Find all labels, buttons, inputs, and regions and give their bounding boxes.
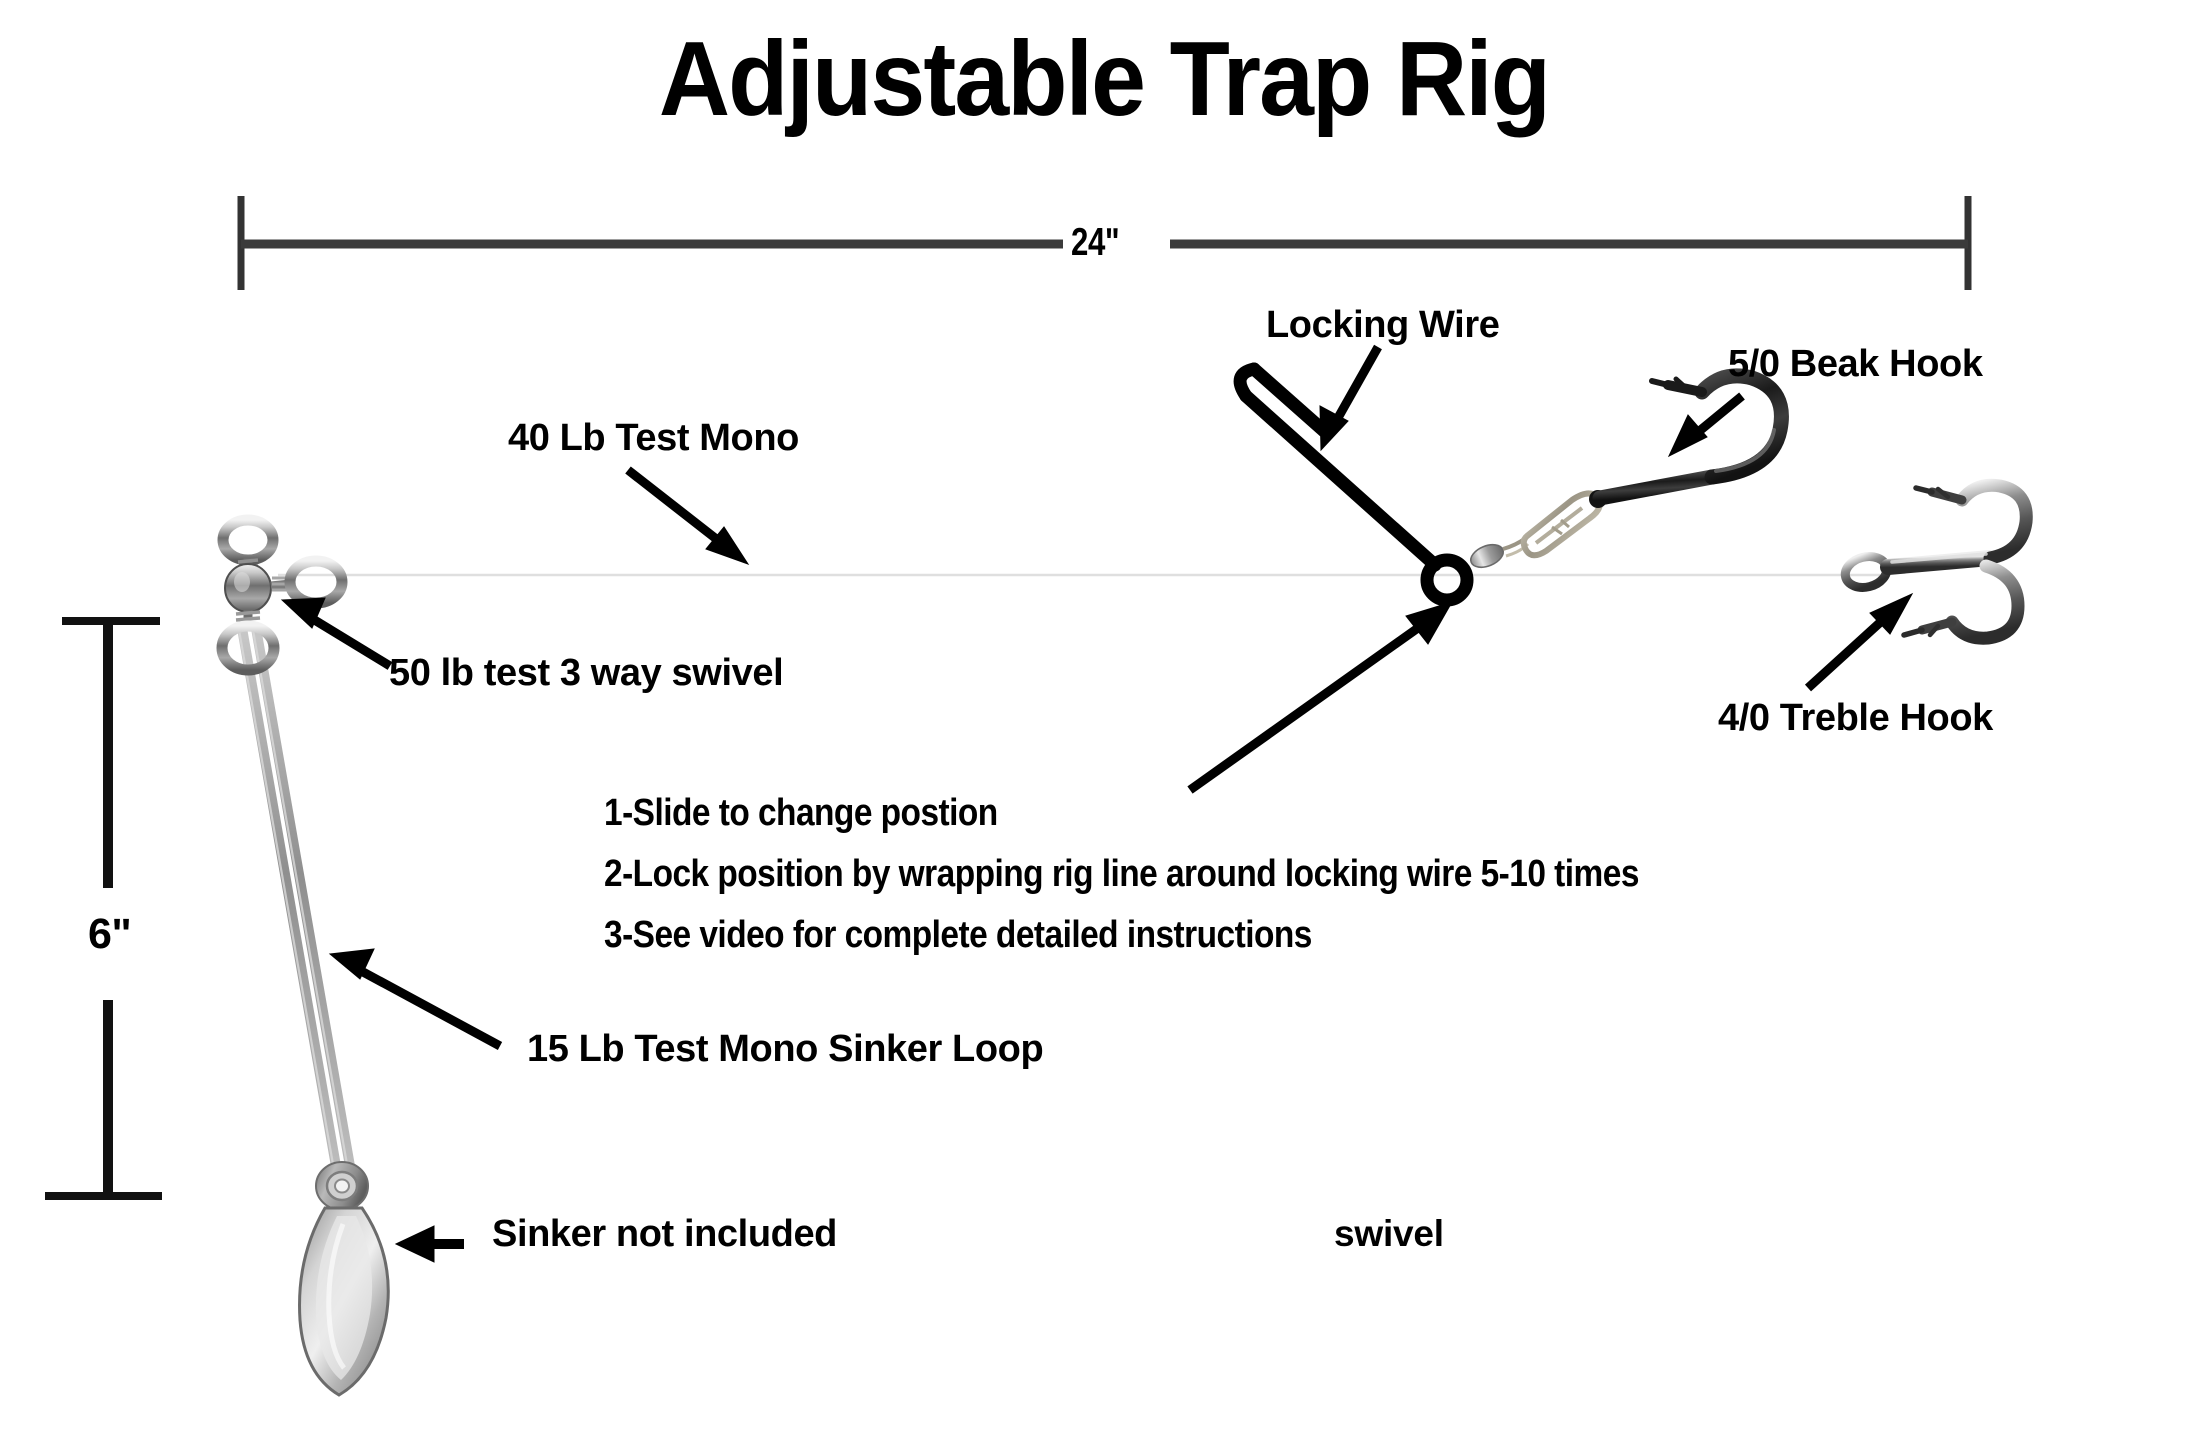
dimension-label-6in: 6" xyxy=(88,912,131,957)
instruction-step-2: 2-Lock position by wrapping rig line aro… xyxy=(604,844,1639,905)
callout-label-mono: 40 Lb Test Mono xyxy=(508,419,799,459)
callout-label-beak-hook: 5/0 Beak Hook xyxy=(1728,345,1983,385)
sinker xyxy=(300,1162,389,1395)
rig-diagram-canvas: Adjustable Trap Rig 24" 6" 40 Lb Test Mo… xyxy=(0,0,2208,1440)
main-rig-line xyxy=(278,575,1880,580)
arrow-slide-position xyxy=(1190,602,1452,790)
dimension-6-inches xyxy=(45,621,162,1196)
arrow-sinker-loop xyxy=(330,949,500,1046)
sinker-loop xyxy=(239,628,351,1172)
arrow-mono xyxy=(628,470,748,564)
page-title: Adjustable Trap Rig xyxy=(77,24,2130,135)
three-way-swivel xyxy=(222,520,342,670)
callout-label-treble-hook: 4/0 Treble Hook xyxy=(1718,699,1993,739)
arrow-three-way-swivel xyxy=(282,598,390,666)
instruction-step-3: 3-See video for complete detailed instru… xyxy=(604,905,1639,966)
arrow-locking-wire xyxy=(1320,347,1378,450)
arrow-treble-hook xyxy=(1808,594,1912,688)
dimension-label-24in: 24" xyxy=(1071,223,1119,264)
instruction-list: 1-Slide to change postion 2-Lock positio… xyxy=(604,783,1780,966)
callout-label-locking-wire: Locking Wire xyxy=(1266,306,1499,346)
treble-hook xyxy=(1842,485,2026,638)
instruction-step-1: 1-Slide to change postion xyxy=(604,783,1639,844)
callout-label-swivel: swivel xyxy=(1334,1215,1444,1254)
callout-label-three-way-swivel: 50 lb test 3 way swivel xyxy=(389,654,783,694)
callout-label-sinker-loop: 15 Lb Test Mono Sinker Loop xyxy=(527,1030,1043,1070)
arrow-sinker xyxy=(396,1226,464,1262)
arrow-beak-hook xyxy=(1669,396,1742,456)
sliding-swivel xyxy=(1467,493,1599,571)
locking-wire xyxy=(1240,369,1467,600)
callout-label-sinker: Sinker not included xyxy=(492,1215,837,1255)
